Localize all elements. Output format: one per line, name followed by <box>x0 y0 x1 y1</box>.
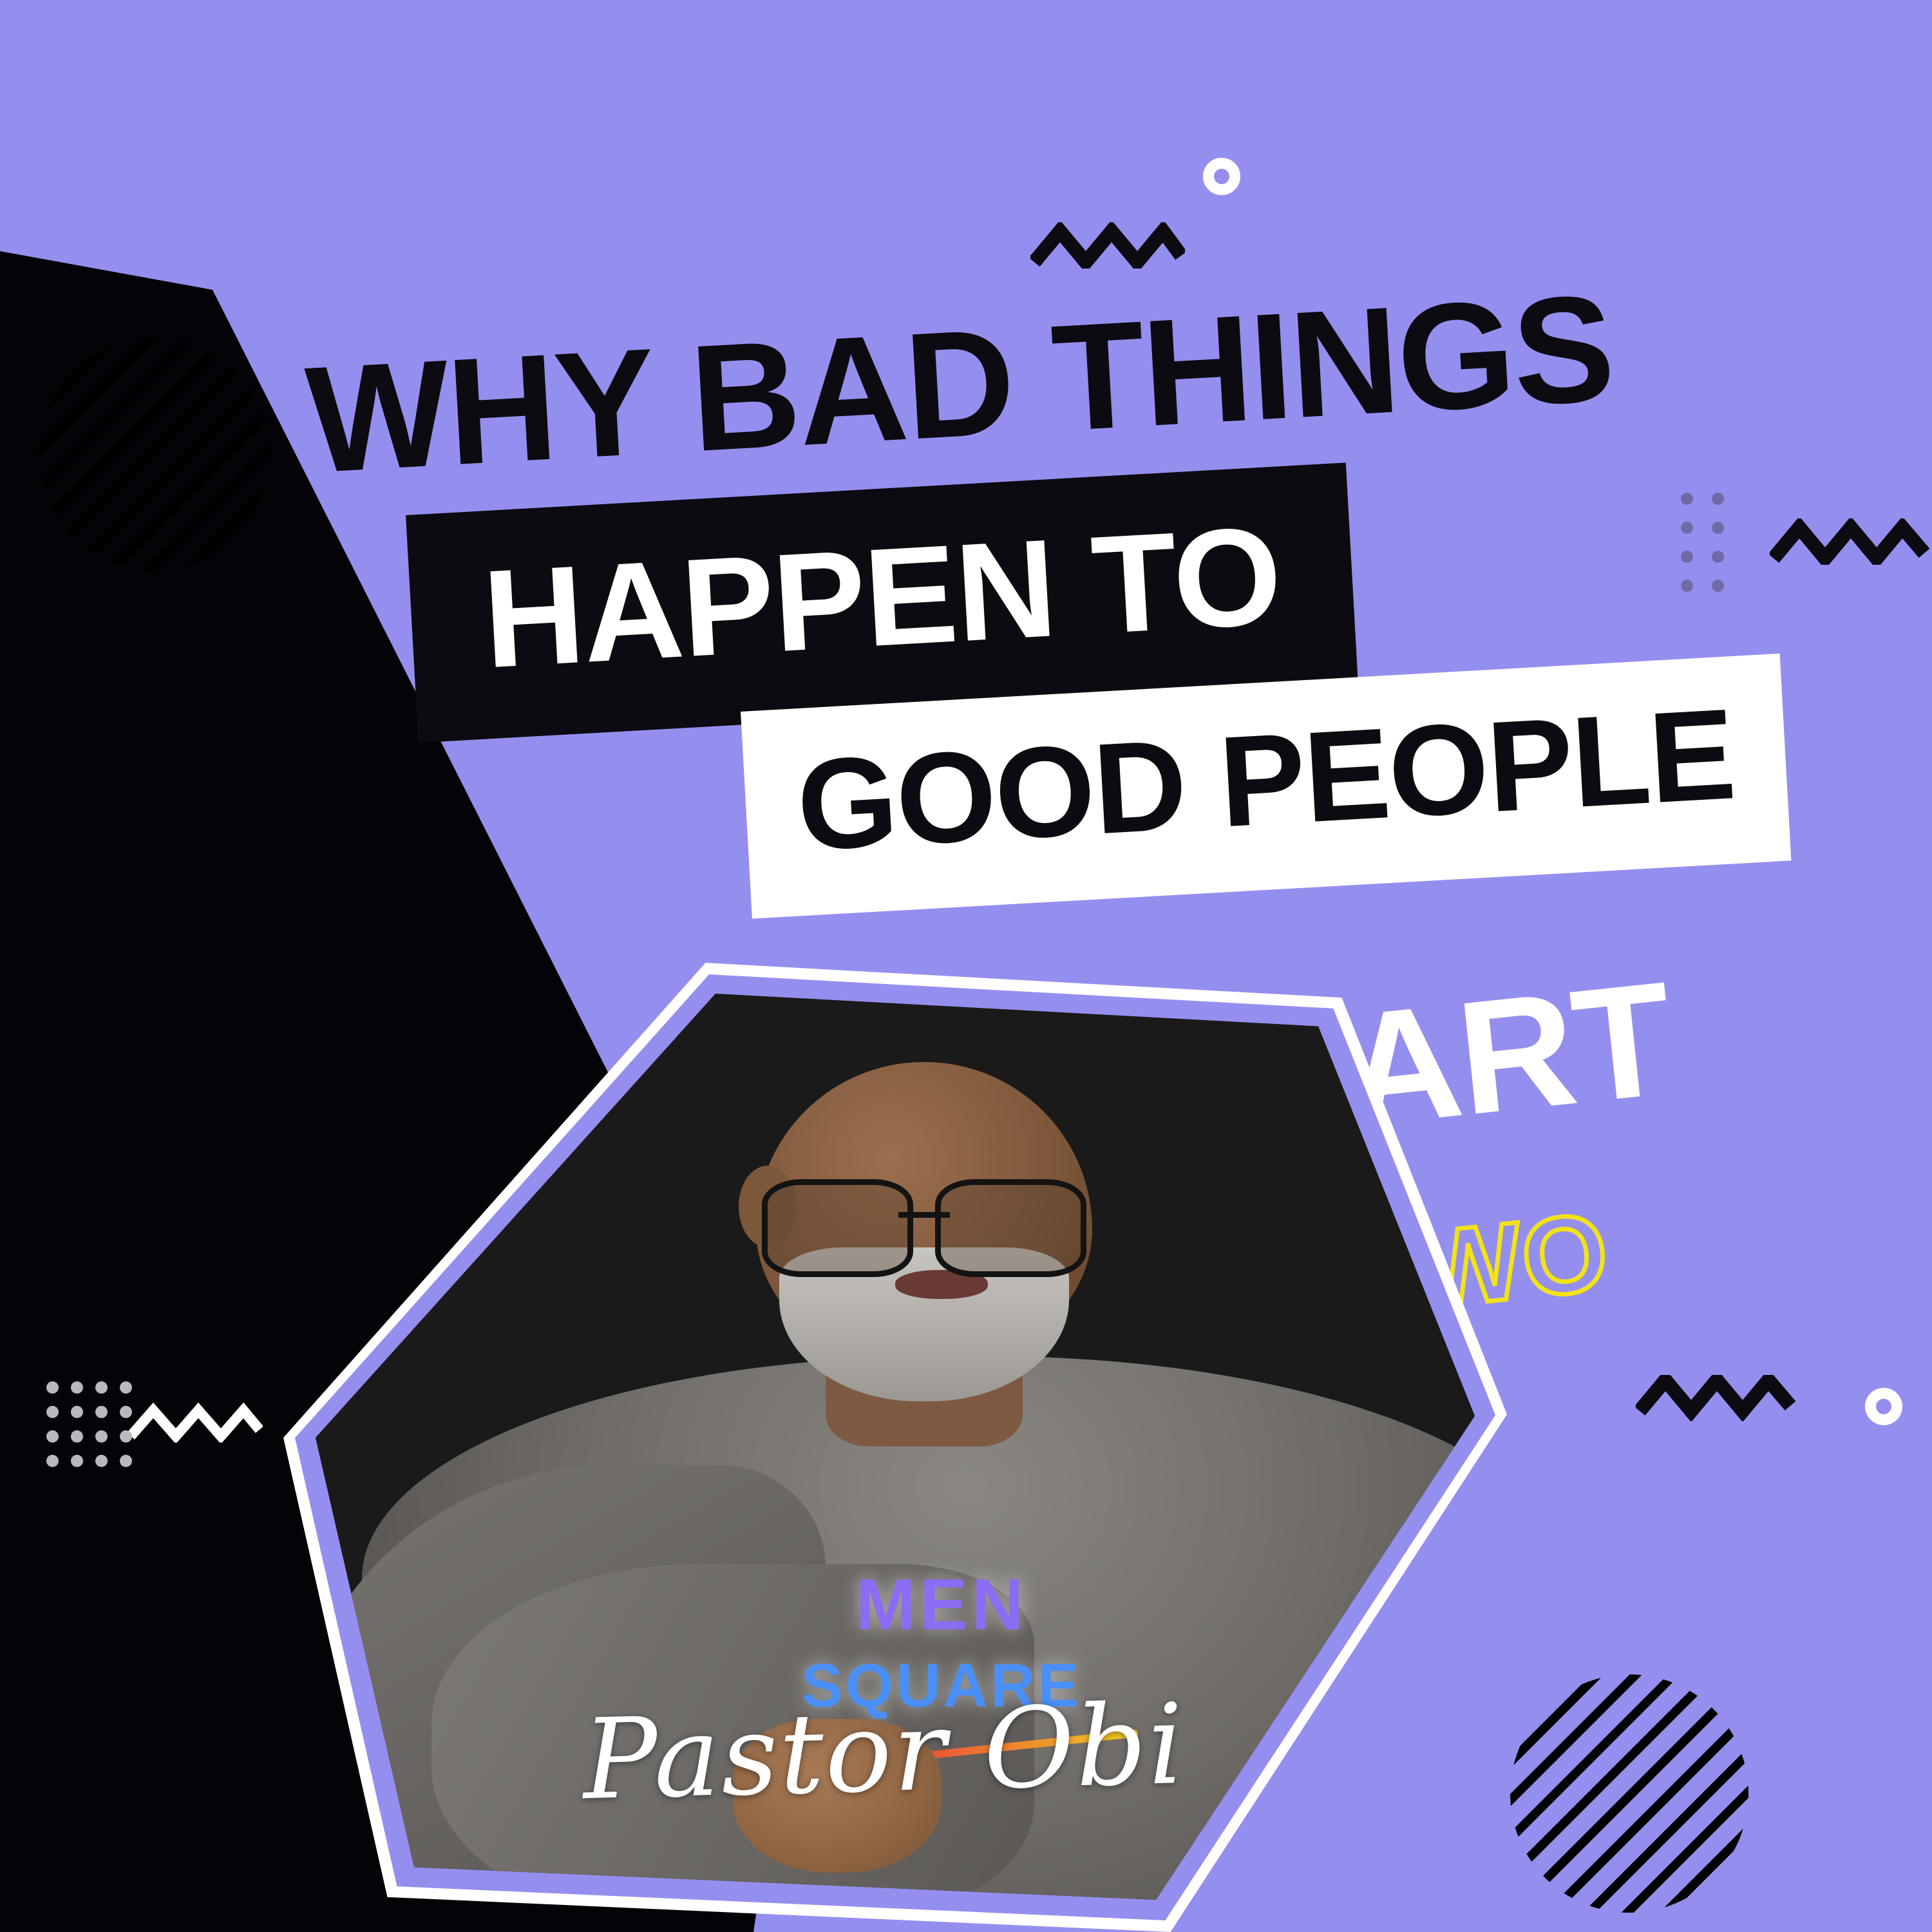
eyeglass-bridge <box>898 1212 951 1218</box>
zigzag-icon <box>1030 222 1185 269</box>
eyeglasses-icon <box>762 1179 1086 1265</box>
headline-line-1: WHY BAD THINGS <box>303 272 1616 496</box>
circle-outline-icon <box>1865 1388 1902 1425</box>
eyeglass-lens-left <box>762 1179 913 1277</box>
circle-outline-icon <box>1203 158 1240 195</box>
dot-grid-icon <box>1681 493 1810 621</box>
striped-circle-icon <box>39 338 270 570</box>
eyeglass-lens-right <box>935 1179 1086 1277</box>
zigzag-icon <box>1636 1375 1797 1421</box>
striped-circle-icon <box>1510 1674 1748 1913</box>
podcast-cover-art: WHY BAD THINGS HAPPEN TO GOOD PEOPLE PAR… <box>0 0 1932 1932</box>
dot-grid-icon <box>46 1381 188 1523</box>
shirt-logo-top: MEN <box>733 1569 1150 1641</box>
speaker-signature: Pastor Obi <box>582 1680 1186 1824</box>
